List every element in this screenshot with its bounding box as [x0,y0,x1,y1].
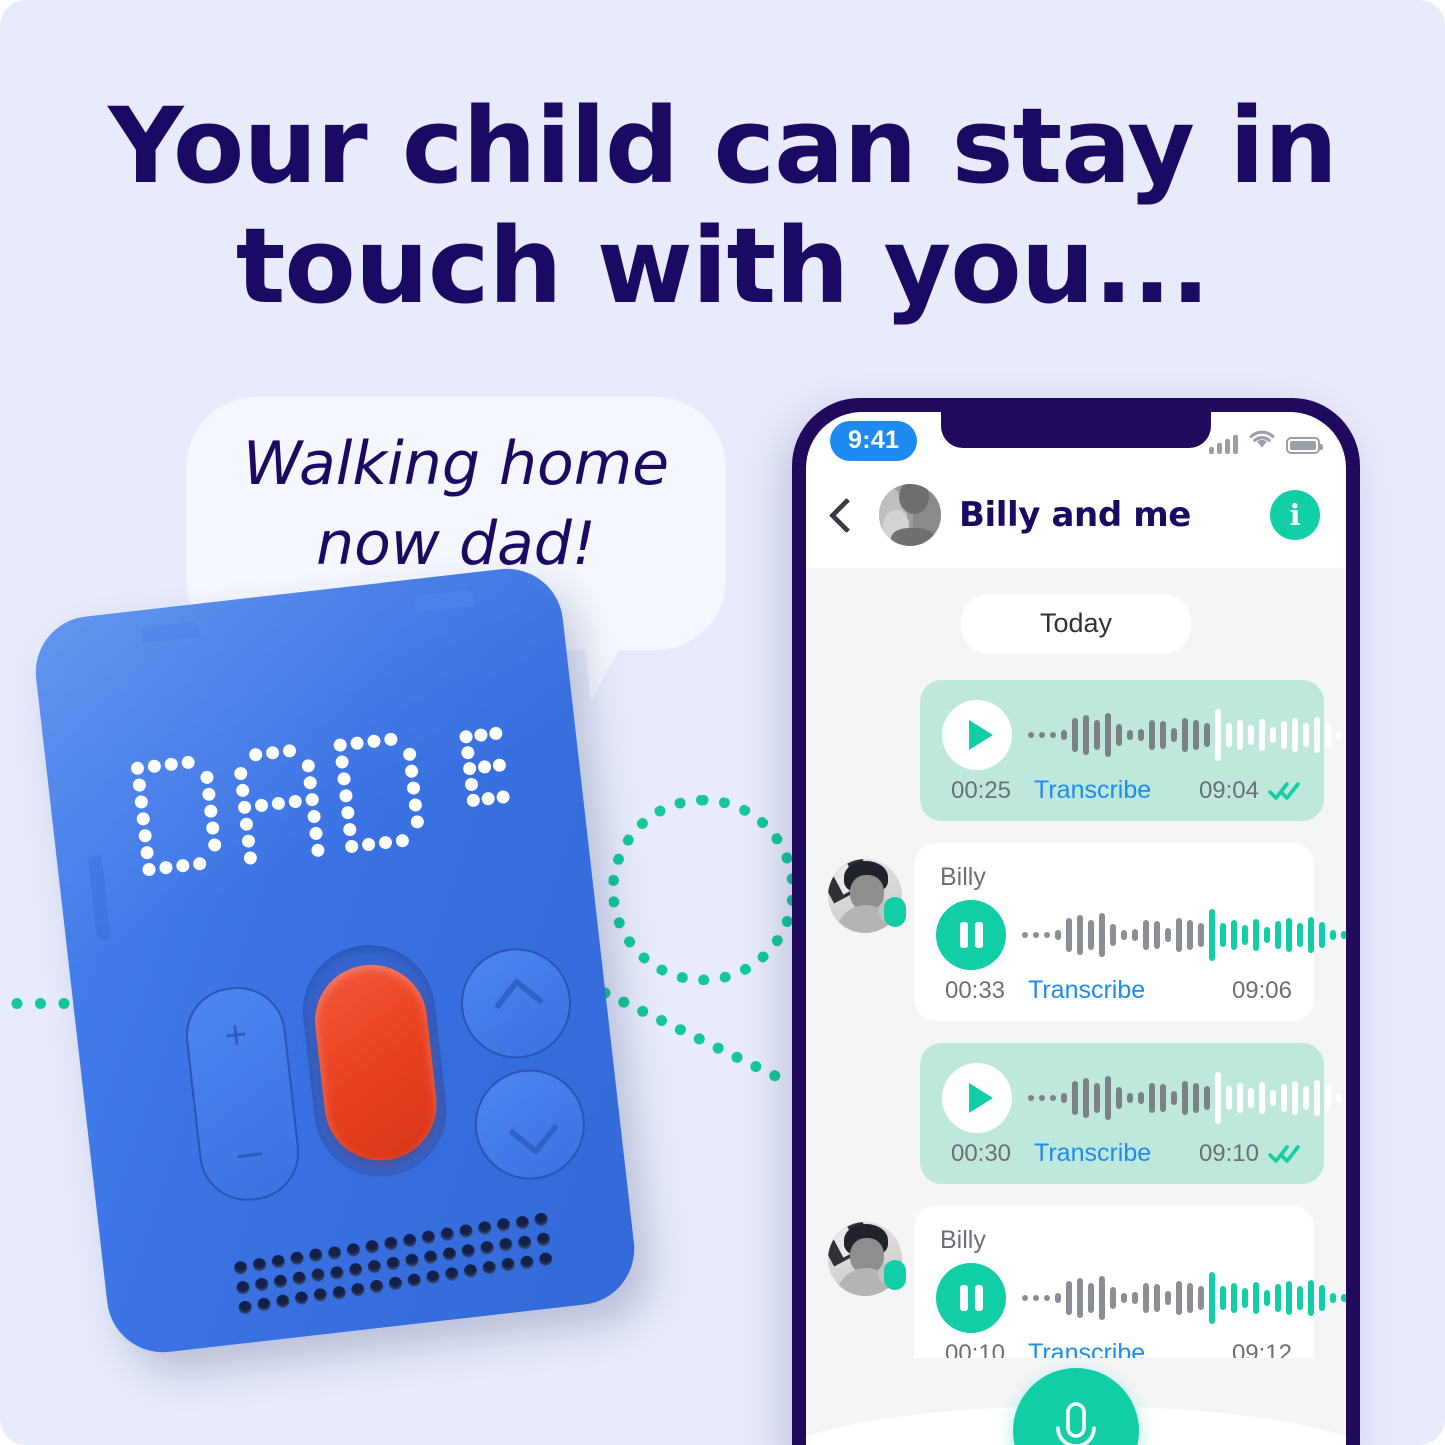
avatar[interactable] [828,859,902,933]
bubble-footer: 00:30 Transcribe 09:10 [942,1139,1302,1168]
volume-rocker-button[interactable]: + – [181,982,305,1206]
play-button[interactable] [942,700,1012,770]
chevron-up-icon [494,978,545,1029]
phone-screen: 9:41 [806,412,1346,1445]
chat-message-list[interactable]: Today 00:25 Transcribe 09:04 [806,568,1346,1358]
pause-icon [960,1285,983,1311]
transcribe-link[interactable]: Transcribe [1034,776,1199,805]
volume-up-label: + [222,1014,250,1056]
kids-phone-device: + – [0,527,693,1392]
pause-button[interactable] [936,1263,1006,1333]
back-chevron-icon[interactable] [829,497,864,532]
bubble-main [942,700,1302,770]
waveform[interactable] [1022,904,1346,966]
device-body: + – [30,563,640,1358]
microphone-icon [1047,1396,1105,1445]
signal-bars-icon [1209,435,1238,454]
chat-title: Billy and me [959,495,1252,535]
chat-header: Billy and me i [806,470,1346,568]
transcribe-link[interactable]: Transcribe [1028,976,1232,1005]
speaker-grille [231,1207,566,1310]
bubble-footer: 00:33 Transcribe 09:06 [936,976,1292,1005]
waveform[interactable] [1028,1067,1346,1129]
pause-button[interactable] [936,900,1006,970]
group-avatar[interactable] [879,484,941,546]
message-duration: 00:33 [936,977,1014,1005]
message-row: 00:25 Transcribe 09:04 [828,680,1324,821]
play-icon [969,720,993,750]
voice-message-bubble-outgoing[interactable]: 00:25 Transcribe 09:04 [920,680,1324,821]
sender-name: Billy [940,1226,1292,1255]
message-row: 00:30 Transcribe 09:10 [828,1043,1324,1184]
waveform[interactable] [1022,1267,1346,1329]
battery-icon [1286,437,1320,454]
read-receipt-icon [1268,1143,1302,1165]
led-display [128,715,538,875]
composer-area [806,1358,1346,1445]
nav-down-button[interactable] [469,1064,591,1186]
page-title: Your child can stay in touch with you... [70,86,1375,326]
promo-canvas: Your child can stay in touch with you...… [0,0,1445,1445]
waveform[interactable] [1028,704,1346,766]
avatar[interactable] [828,1222,902,1296]
device-top-nub-left [141,621,200,643]
headline-line-2: touch with you... [70,206,1375,326]
bubble-main [936,900,1292,970]
sender-name: Billy [940,863,1292,892]
online-status-badge [884,1260,906,1290]
message-time: 09:04 [1199,777,1259,805]
bubble-main [942,1063,1302,1133]
message-row: Billy 00:33 Transcribe 09:06 [828,843,1324,1021]
speech-line-1: Walking home [196,424,716,504]
record-voice-button[interactable] [1013,1368,1139,1445]
device-side-button[interactable] [88,854,112,941]
status-bar: 9:41 [806,412,1346,470]
voice-message-bubble-outgoing[interactable]: 00:30 Transcribe 09:10 [920,1043,1324,1184]
info-button[interactable]: i [1270,490,1320,540]
voice-message-bubble-incoming[interactable]: Billy 00:33 Transcribe 09:06 [914,843,1314,1021]
read-receipt-icon [1268,780,1302,802]
message-time: 09:10 [1199,1140,1259,1168]
status-time: 9:41 [830,421,917,461]
transcribe-link[interactable]: Transcribe [1034,1139,1199,1168]
phone-mockup: 9:41 [792,398,1360,1445]
device-top-nub-right [414,590,473,612]
bubble-footer: 00:25 Transcribe 09:04 [942,776,1302,805]
online-status-badge [884,897,906,927]
status-icons [1209,429,1320,454]
nav-up-button[interactable] [455,942,577,1064]
volume-down-label: – [235,1129,264,1175]
headline-line-1: Your child can stay in [70,86,1375,206]
message-time: 09:06 [1232,977,1292,1005]
chevron-down-icon [508,1105,559,1156]
wifi-icon [1248,429,1276,454]
play-button[interactable] [942,1063,1012,1133]
date-divider-chip: Today [961,594,1191,654]
pause-icon [960,922,983,948]
message-duration: 00:25 [942,777,1020,805]
message-duration: 00:30 [942,1140,1020,1168]
bubble-main [936,1263,1292,1333]
play-icon [969,1083,993,1113]
